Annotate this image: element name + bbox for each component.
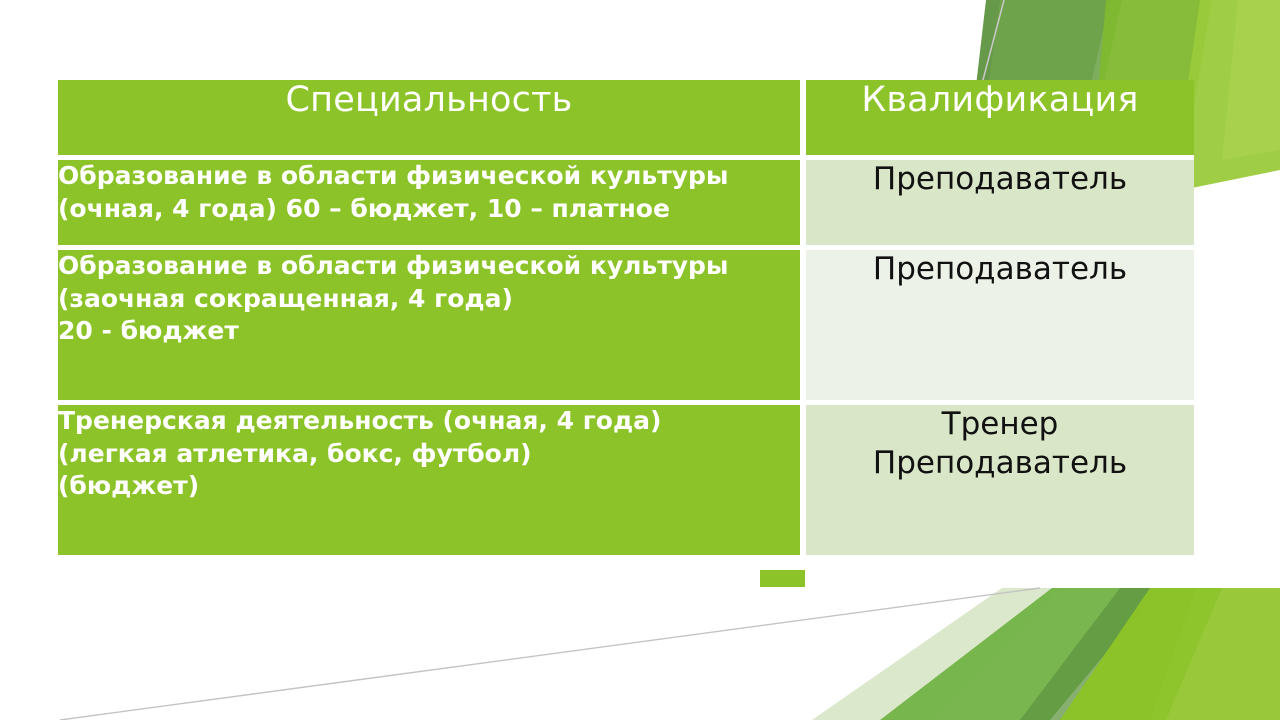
column-header-qualification: Квалификация [806,80,1194,160]
column-header-specialty-label: Специальность [58,80,800,120]
specialties-table-container: Специальность Квалификация Образование в… [58,80,1194,555]
table-header: Специальность Квалификация [58,80,1194,160]
cell-qualification-text: Преподаватель [806,160,1194,199]
decor-bottom-shape-pale [812,588,1060,720]
decor-bottom-tab [760,570,805,587]
decor-bottom-shape-light [1166,588,1280,720]
cell-qualification: Преподаватель [806,250,1194,405]
cell-qualification-text: Тренер Преподаватель [806,405,1194,483]
column-header-qualification-label: Квалификация [806,80,1194,120]
table-row: Образование в области физической культур… [58,160,1194,250]
table-row: Тренерская деятельность (очная, 4 года) … [58,405,1194,555]
decor-bottom-shape-dark [1020,588,1196,720]
table-body: Образование в области физической культур… [58,160,1194,555]
table-row: Образование в области физической культур… [58,250,1194,405]
cell-specialty-text: Тренерская деятельность (очная, 4 года) … [58,405,800,503]
decor-bottom-hairline [60,588,1040,720]
cell-specialty-text: Образование в области физической культур… [58,160,800,225]
decor-bottom-shape-bright [1060,588,1280,720]
cell-specialty: Образование в области физической культур… [58,250,806,405]
specialties-table: Специальность Квалификация Образование в… [58,80,1194,555]
cell-specialty-text: Образование в области физической культур… [58,250,800,348]
table-header-row: Специальность Квалификация [58,80,1194,160]
cell-qualification-text: Преподаватель [806,250,1194,289]
decor-bottom-shape-mid [880,588,1160,720]
cell-qualification: Преподаватель [806,160,1194,250]
cell-specialty: Образование в области физической культур… [58,160,806,250]
decor-top-shape-pale [1222,0,1280,160]
cell-specialty: Тренерская деятельность (очная, 4 года) … [58,405,806,555]
column-header-specialty: Специальность [58,80,806,160]
cell-qualification: Тренер Преподаватель [806,405,1194,555]
